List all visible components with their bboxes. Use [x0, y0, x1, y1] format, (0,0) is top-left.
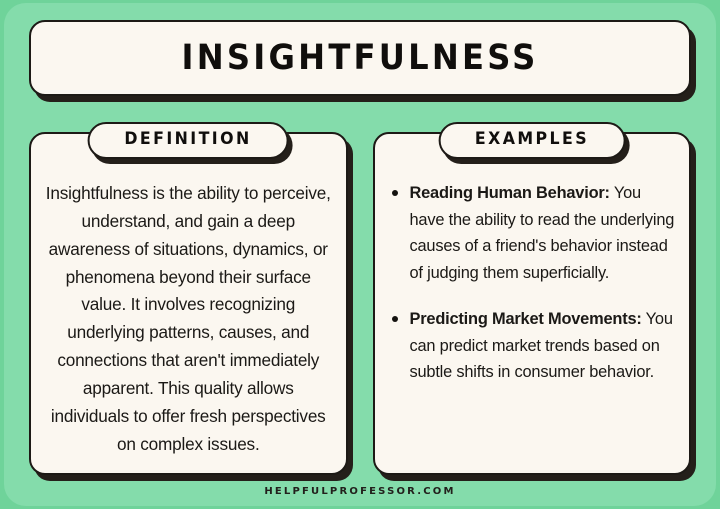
content-columns: Insightfulness is the ability to perceiv… — [29, 122, 691, 475]
example-term: Reading Human Behavior: — [410, 184, 610, 202]
definition-panel: Insightfulness is the ability to perceiv… — [29, 132, 348, 475]
footer: HELPFULPROFESSOR.COM — [0, 481, 720, 499]
footer-watermark: HELPFULPROFESSOR.COM — [264, 486, 455, 497]
definition-column: Insightfulness is the ability to perceiv… — [29, 122, 348, 475]
examples-panel-body: Reading Human Behavior: You have the abi… — [375, 174, 690, 463]
definition-panel-body: Insightfulness is the ability to perceiv… — [31, 174, 346, 463]
definition-badge: DEFINITION — [88, 122, 289, 159]
example-term: Predicting Market Movements: — [410, 310, 642, 328]
bullet-icon — [392, 190, 398, 196]
examples-badge: EXAMPLES — [438, 122, 625, 159]
definition-badge-label: DEFINITION — [125, 131, 252, 148]
examples-column: Reading Human Behavior: You have the abi… — [373, 122, 692, 475]
bullet-icon — [392, 316, 398, 322]
list-item: Reading Human Behavior: You have the abi… — [389, 180, 676, 286]
page-title: INSIGHTFULNESS — [181, 41, 538, 76]
examples-panel: Reading Human Behavior: You have the abi… — [373, 132, 692, 475]
examples-list: Reading Human Behavior: You have the abi… — [389, 174, 676, 386]
examples-badge-label: EXAMPLES — [475, 131, 589, 148]
title-card: INSIGHTFULNESS — [29, 20, 691, 96]
infographic-root: INSIGHTFULNESS Insightfulness is the abi… — [0, 0, 720, 509]
definition-text: Insightfulness is the ability to perceiv… — [45, 174, 332, 459]
list-item: Predicting Market Movements: You can pre… — [389, 306, 676, 386]
